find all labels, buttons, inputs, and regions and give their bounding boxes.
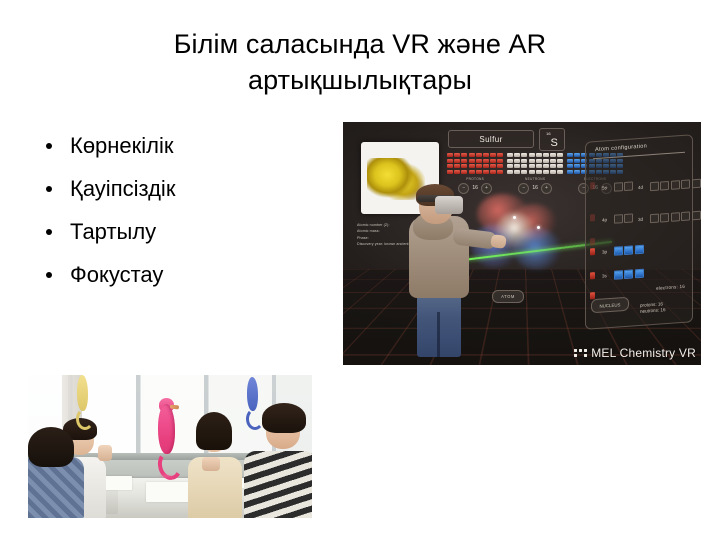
protons-bank-label: PROTONS <box>447 177 503 181</box>
ar-seahorse-yellow <box>74 375 92 429</box>
student-foreground-left <box>28 427 86 518</box>
bullet-list: Көрнекілік Қауіпсіздік Тартылу Фокустау <box>30 133 320 305</box>
list-item: Қауіпсіздік <box>30 176 320 202</box>
nucleus-button[interactable]: NUCLEUS <box>591 297 629 314</box>
list-item: Көрнекілік <box>30 133 320 159</box>
orbital-row-4d[interactable]: 4d <box>638 179 701 192</box>
ar-seahorse-blue <box>244 375 262 429</box>
orbital-row-3d[interactable]: 3d <box>638 211 701 224</box>
orbital-label: 3d <box>638 216 647 222</box>
element-symbol: S <box>551 138 558 149</box>
orbital-label: 4p <box>602 217 611 223</box>
orbital-row-5s[interactable]: 5s <box>602 181 633 192</box>
vr-chemistry-image: Atomic number (Z): Atomic mass: Phase: D… <box>343 122 701 365</box>
vr-headset-icon <box>435 196 463 214</box>
orbital-row-3s[interactable]: 3s <box>602 269 644 281</box>
neutrons-bank-label: NEUTRONS <box>507 177 563 181</box>
list-item: Фокустау <box>30 262 320 288</box>
page-title: Білім саласында VR және AR артықшылықтар… <box>60 26 660 98</box>
atom-button[interactable]: ATOM <box>492 290 524 303</box>
mel-logo-icon <box>574 349 587 357</box>
orbital-label: 4d <box>638 184 647 190</box>
student-center-right <box>186 409 244 517</box>
bullet-label: Көрнекілік <box>70 133 174 158</box>
orbital-row-4p[interactable]: 4p <box>602 213 633 224</box>
nucleus-counts: protons: 16 neutrons: 16 <box>640 301 666 315</box>
bullet-icon <box>46 229 52 235</box>
bullet-icon <box>46 186 52 192</box>
vr-user-figure <box>397 182 493 357</box>
list-item: Тартылу <box>30 219 320 245</box>
mel-chemistry-watermark: MEL Chemistry VR <box>574 346 696 360</box>
orbital-label: 3p <box>602 249 611 255</box>
element-number: 16 <box>546 131 550 136</box>
orbital-label: 3s <box>602 273 611 279</box>
page-title-line-1: Білім саласында VR және AR <box>60 26 660 62</box>
bullet-label: Тартылу <box>70 219 156 244</box>
bullet-label: Қауіпсіздік <box>70 176 175 201</box>
page-title-line-2: артықшылықтары <box>60 62 660 98</box>
element-name-label: Sulfur <box>448 130 534 148</box>
ar-seahorse-pink <box>154 398 178 476</box>
mel-brand-label: MEL Chemistry VR <box>591 346 696 360</box>
orbital-label: 5s <box>602 185 611 191</box>
bullet-icon <box>46 143 52 149</box>
classroom-ar-image <box>28 375 312 518</box>
orbital-row-3p[interactable]: 3p <box>602 245 644 257</box>
bullet-icon <box>46 272 52 278</box>
atom-configuration-title: Atom configuration <box>595 143 647 153</box>
electrons-total-label: electrons: 16 <box>656 284 685 291</box>
neutrons-bank: NEUTRONS − 16 + <box>507 153 563 194</box>
bullet-label: Фокустау <box>70 262 163 287</box>
element-symbol-box: 16 S <box>539 128 565 151</box>
